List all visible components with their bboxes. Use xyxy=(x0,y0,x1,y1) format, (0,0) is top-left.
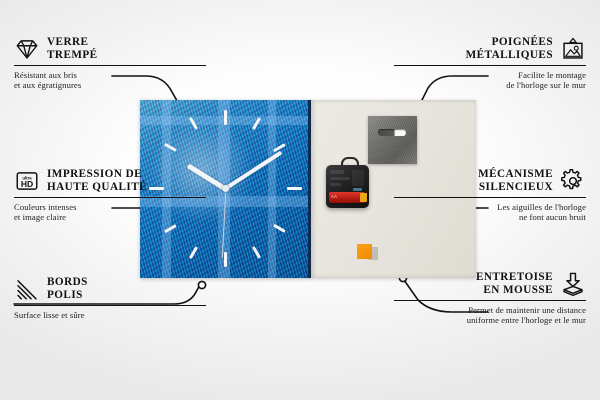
feature-title: MÉCANISME SILENCIEUX xyxy=(478,168,553,193)
feature-title: IMPRESSION DE HAUTE QUALITÉ xyxy=(47,168,147,193)
feature-entretoise-en-mousse: ENTRETOISE EN MOUSSE Permet de maintenir… xyxy=(394,271,586,326)
feature-title-line2: TREMPÉ xyxy=(47,49,98,61)
feature-title-line2: MÉTALLIQUES xyxy=(466,49,553,61)
feature-title: BORDS POLIS xyxy=(47,276,88,301)
feature-title: ENTRETOISE EN MOUSSE xyxy=(476,271,553,296)
diamond-icon xyxy=(14,36,40,62)
feature-subtitle-line1: Permet de maintenir une distance xyxy=(468,305,586,315)
feature-title-line1: IMPRESSION DE xyxy=(47,168,142,180)
feature-subtitle: Permet de maintenir une distance uniform… xyxy=(394,301,586,325)
ultra-hd-icon: ultra HD xyxy=(14,168,40,194)
feature-subtitle: Couleurs intenses et image claire xyxy=(14,198,206,222)
clock-tick xyxy=(189,246,198,259)
feature-subtitle-line2: et image claire xyxy=(14,212,66,222)
feature-subtitle-line1: Facilite le montage xyxy=(518,70,586,80)
feature-title-line2: HAUTE QUALITÉ xyxy=(47,181,147,193)
feature-title-line1: VERRE xyxy=(47,36,88,48)
clock-tick xyxy=(287,187,302,190)
battery-positive-terminal xyxy=(360,193,367,202)
feature-title-line2: EN MOUSSE xyxy=(483,284,553,296)
feature-title-line2: SILENCIEUX xyxy=(479,181,553,193)
foam-spacer xyxy=(357,244,372,259)
feature-subtitle: Résistant aux bris et aux égratignures xyxy=(14,66,206,90)
feature-subtitle-line1: Les aiguilles de l'horloge xyxy=(497,202,586,212)
feature-title-line1: ENTRETOISE xyxy=(476,271,553,283)
feature-subtitle-line1: Couleurs intenses xyxy=(14,202,77,212)
feature-title-line2: POLIS xyxy=(47,289,83,301)
feature-mecanisme-silencieux: MÉCANISME SILENCIEUX Les aiguilles de l'… xyxy=(394,168,586,223)
feature-verre-trempe: VERRE TREMPÉ Résistant aux bris et aux é… xyxy=(14,36,206,91)
foam-spacer-arrow-icon xyxy=(560,271,586,297)
feature-impression-haute-qualite: ultra HD IMPRESSION DE HAUTE QUALITÉ Cou… xyxy=(14,168,206,223)
feature-title-line1: POIGNÉES xyxy=(492,36,553,48)
feature-title: VERRE TREMPÉ xyxy=(47,36,98,61)
feature-subtitle-line2: uniforme entre l'horloge et le mur xyxy=(467,315,586,325)
feature-subtitle-line2: ne font aucun bruit xyxy=(519,212,586,222)
feature-subtitle-line2: de l'horloge sur le mur xyxy=(506,80,586,90)
infographic-canvas: AA VERRE TREMPÉ Résistant aux bris et au… xyxy=(0,0,600,400)
feature-title-line1: BORDS xyxy=(47,276,88,288)
polished-edges-icon xyxy=(14,276,40,302)
hanger-keyhole-slot xyxy=(378,129,406,136)
feature-bords-polis: BORDS POLIS Surface lisse et sûre xyxy=(14,276,206,320)
feature-poignees-metalliques: POIGNÉES MÉTALLIQUES Facilite le montage… xyxy=(394,36,586,91)
clock-center-hub xyxy=(222,185,229,192)
clock-tick xyxy=(224,110,227,125)
feature-subtitle-line1: Résistant aux bris xyxy=(14,70,77,80)
framed-picture-hanger-icon xyxy=(560,36,586,62)
clock-tick xyxy=(252,246,261,259)
gear-icon xyxy=(560,168,586,194)
feature-subtitle: Facilite le montage de l'horloge sur le … xyxy=(394,66,586,90)
feature-title-line1: MÉCANISME xyxy=(478,168,553,180)
feature-subtitle: Surface lisse et sûre xyxy=(14,306,206,320)
svg-text:HD: HD xyxy=(21,179,33,189)
battery-label: AA xyxy=(331,194,337,199)
feature-title: POIGNÉES MÉTALLIQUES xyxy=(466,36,553,61)
metal-hanger-plate xyxy=(368,116,417,164)
feature-subtitle-line2: et aux égratignures xyxy=(14,80,81,90)
feature-subtitle: Les aiguilles de l'horloge ne font aucun… xyxy=(394,198,586,222)
clock-tick xyxy=(224,252,227,267)
feature-subtitle-line1: Surface lisse et sûre xyxy=(14,310,85,320)
